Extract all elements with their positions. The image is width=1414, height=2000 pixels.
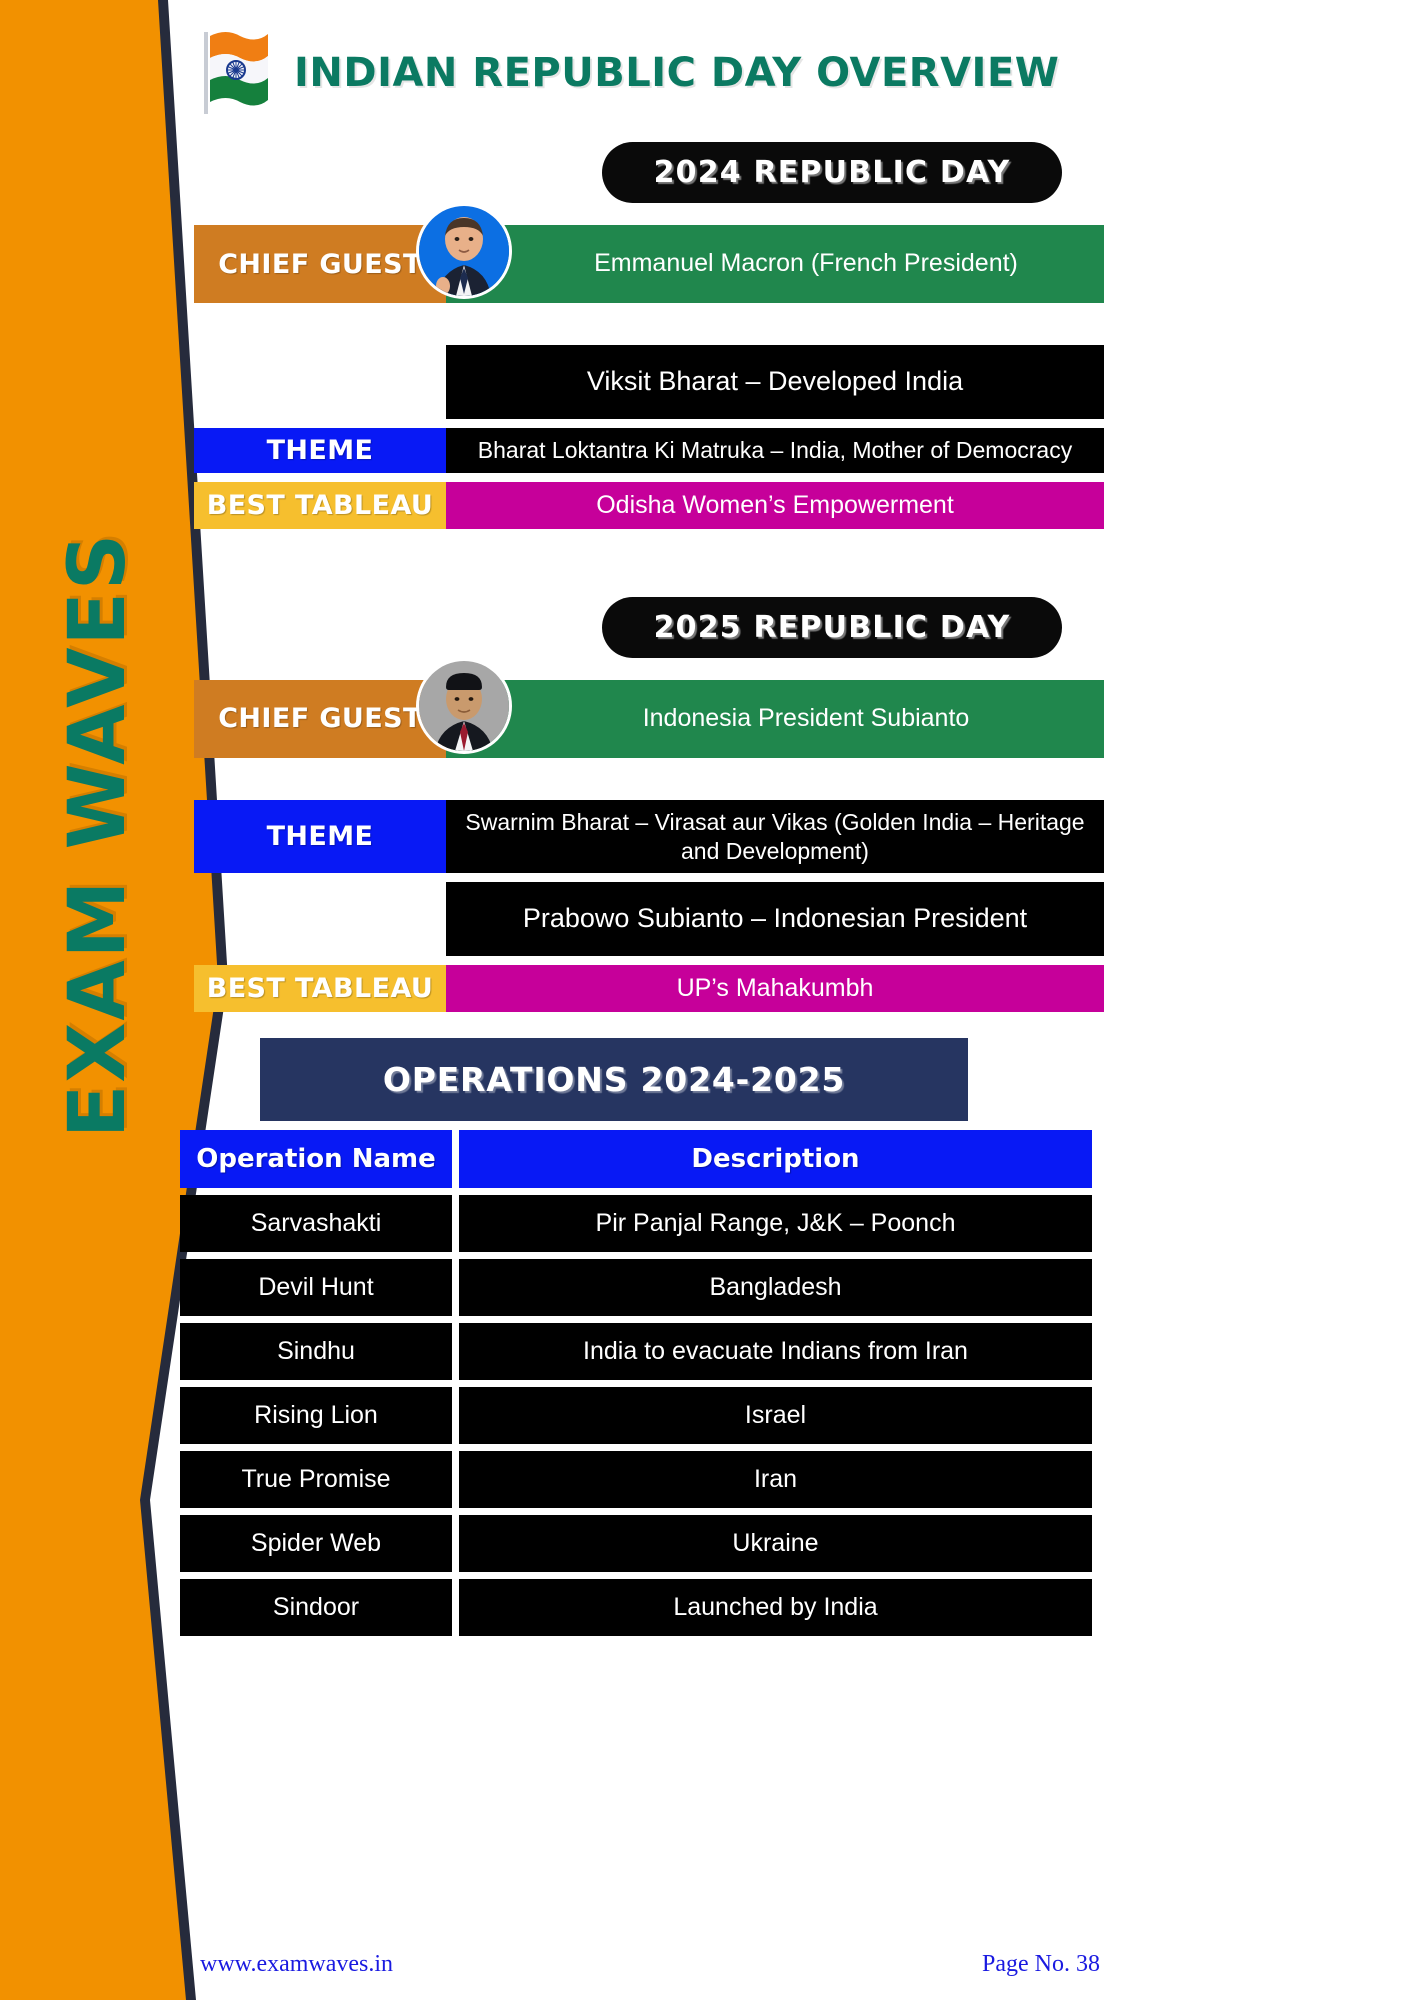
chief-guest-label-2024: CHIEF GUEST xyxy=(194,225,446,303)
cell-description: India to evacuate Indians from Iran xyxy=(459,1323,1092,1380)
content-column: INDIAN REPUBLIC DAY OVERVIEW 2024 REPUBL… xyxy=(180,0,1414,2000)
chief-guest-value-2024: Emmanuel Macron (French President) xyxy=(446,225,1104,303)
best-tableau-value-2025: UP’s Mahakumbh xyxy=(446,965,1104,1012)
page-title-row: INDIAN REPUBLIC DAY OVERVIEW xyxy=(180,0,1414,116)
extra-black-2024: Viksit Bharat – Developed India xyxy=(446,345,1104,419)
chief-guest-label-2025: CHIEF GUEST xyxy=(194,680,446,758)
section-heading-2025: 2025 REPUBLIC DAY xyxy=(602,597,1063,658)
footer-website[interactable]: www.examwaves.in xyxy=(200,1951,393,1978)
section-heading-2024: 2024 REPUBLIC DAY xyxy=(602,142,1063,203)
table-row: True Promise Iran xyxy=(180,1451,1092,1508)
table-row: Spider Web Ukraine xyxy=(180,1515,1092,1572)
table-row: Sindoor Launched by India xyxy=(180,1579,1092,1636)
operations-table-header: Operation Name Description xyxy=(180,1130,1092,1188)
indian-flag-icon xyxy=(200,30,272,116)
column-header-description: Description xyxy=(459,1130,1092,1188)
cell-operation-name: Devil Hunt xyxy=(180,1259,452,1316)
extra-black-2025-wrap: Prabowo Subianto – Indonesian President xyxy=(194,882,1104,956)
prabowo-subianto-photo xyxy=(416,658,512,754)
page-footer: www.examwaves.in Page No. 38 xyxy=(200,1951,1100,1978)
operations-banner-wrap: OPERATIONS 2024-2025 xyxy=(180,1038,1414,1121)
cell-description: Ukraine xyxy=(459,1515,1092,1572)
column-header-operation-name: Operation Name xyxy=(180,1130,452,1188)
theme-label-2024: THEME xyxy=(194,428,446,473)
section-heading-2024-wrap: 2024 REPUBLIC DAY xyxy=(180,142,1414,203)
theme-value-2025: Swarnim Bharat – Virasat aur Vikas (Gold… xyxy=(446,800,1104,874)
cell-description: Israel xyxy=(459,1387,1092,1444)
cell-operation-name: Rising Lion xyxy=(180,1387,452,1444)
best-tableau-row-2024: BEST TABLEAU Odisha Women’s Empowerment xyxy=(194,482,1104,529)
cell-operation-name: Sarvashakti xyxy=(180,1195,452,1252)
cell-operation-name: Sindhu xyxy=(180,1323,452,1380)
best-tableau-value-2024: Odisha Women’s Empowerment xyxy=(446,482,1104,529)
cell-description: Launched by India xyxy=(459,1579,1092,1636)
table-row: Sarvashakti Pir Panjal Range, J&K – Poon… xyxy=(180,1195,1092,1252)
operations-table: Operation Name Description Sarvashakti P… xyxy=(180,1130,1092,1636)
cell-description: Iran xyxy=(459,1451,1092,1508)
chief-guest-row-2025: CHIEF GUEST Indonesia President Subianto xyxy=(194,680,1104,758)
best-tableau-label-2025: BEST TABLEAU xyxy=(194,965,446,1012)
side-brand-label: EXAM WAVES xyxy=(53,385,143,1285)
page-title: INDIAN REPUBLIC DAY OVERVIEW xyxy=(294,50,1059,96)
chief-guest-row-2024: CHIEF GUEST Emmanuel Macron (French Pres… xyxy=(194,225,1104,303)
cell-operation-name: True Promise xyxy=(180,1451,452,1508)
extra-black-2024-wrap: Viksit Bharat – Developed India xyxy=(194,345,1104,419)
table-row: Rising Lion Israel xyxy=(180,1387,1092,1444)
best-tableau-label-2024: BEST TABLEAU xyxy=(194,482,446,529)
theme-row-2024: THEME Bharat Loktantra Ki Matruka – Indi… xyxy=(194,428,1104,473)
theme-value-2024: Bharat Loktantra Ki Matruka – India, Mot… xyxy=(446,428,1104,473)
cell-description: Pir Panjal Range, J&K – Poonch xyxy=(459,1195,1092,1252)
theme-label-2025: THEME xyxy=(194,800,446,874)
cell-operation-name: Sindoor xyxy=(180,1579,452,1636)
operations-banner: OPERATIONS 2024-2025 xyxy=(260,1038,968,1121)
infographic-page: EXAM WAVES INDIAN REPUBLIC DAY OVERVIEW xyxy=(0,0,1414,2000)
operations-table-body: Sarvashakti Pir Panjal Range, J&K – Poon… xyxy=(180,1195,1092,1636)
table-row: Sindhu India to evacuate Indians from Ir… xyxy=(180,1323,1092,1380)
best-tableau-row-2025: BEST TABLEAU UP’s Mahakumbh xyxy=(194,965,1104,1012)
cell-operation-name: Spider Web xyxy=(180,1515,452,1572)
extra-black-2025: Prabowo Subianto – Indonesian President xyxy=(446,882,1104,956)
table-row: Devil Hunt Bangladesh xyxy=(180,1259,1092,1316)
theme-row-2025: THEME Swarnim Bharat – Virasat aur Vikas… xyxy=(194,800,1104,874)
chief-guest-value-2025: Indonesia President Subianto xyxy=(446,680,1104,758)
cell-description: Bangladesh xyxy=(459,1259,1092,1316)
section-heading-2025-wrap: 2025 REPUBLIC DAY xyxy=(180,597,1414,658)
footer-page-number: Page No. 38 xyxy=(982,1951,1100,1978)
emmanuel-macron-photo xyxy=(416,203,512,299)
